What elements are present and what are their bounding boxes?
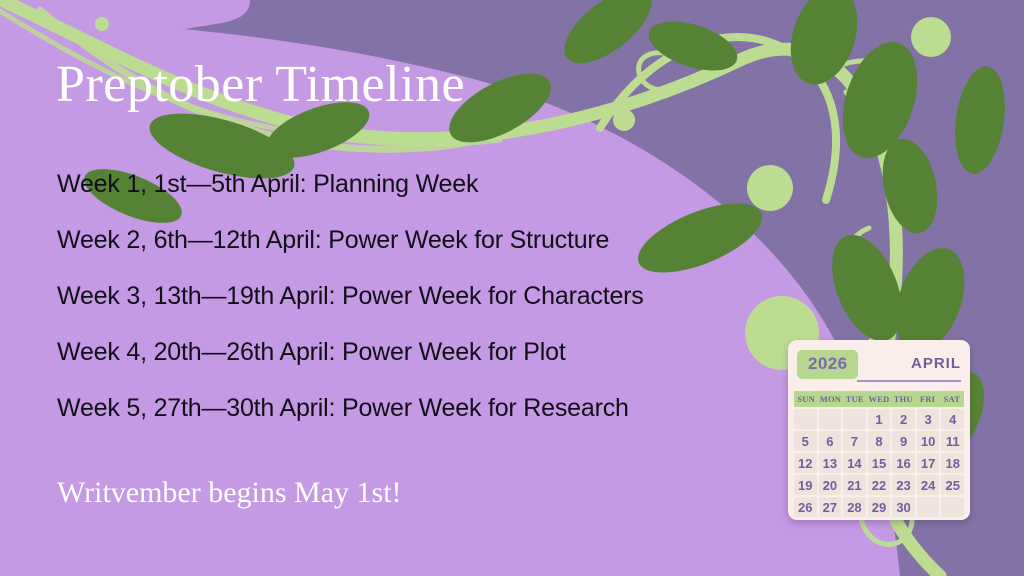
calendar-day-headers: SUN MON TUE WED THU FRI SAT — [794, 391, 964, 407]
calendar-cell-date[interactable]: 14 — [843, 453, 866, 473]
calendar-cell-date[interactable]: 22 — [868, 475, 891, 495]
calendar-cell-date[interactable]: 23 — [892, 475, 915, 495]
list-item: Week 4, 20th—26th April: Power Week for … — [57, 340, 817, 365]
page-title: Preptober Timeline — [56, 56, 465, 113]
calendar-cell-date[interactable]: 9 — [892, 431, 915, 451]
day-header: SUN — [794, 391, 818, 407]
calendar-cell-date[interactable]: 2 — [892, 409, 915, 429]
calendar-cell-date[interactable]: 20 — [819, 475, 842, 495]
day-header: FRI — [915, 391, 939, 407]
calendar-cell-date[interactable]: 7 — [843, 431, 866, 451]
calendar-cell-date[interactable]: 18 — [941, 453, 964, 473]
day-header: THU — [891, 391, 915, 407]
footer-note: Writvember begins May 1st! — [57, 476, 402, 510]
calendar-cell-date[interactable]: 1 — [868, 409, 891, 429]
calendar-cell-empty — [917, 497, 940, 517]
calendar-cell-date[interactable]: 19 — [794, 475, 817, 495]
day-header: SAT — [940, 391, 964, 407]
calendar-month-label: APRIL — [911, 355, 961, 372]
calendar-divider — [857, 380, 961, 382]
calendar-cell-date[interactable]: 27 — [819, 497, 842, 517]
calendar-cell-date[interactable]: 26 — [794, 497, 817, 517]
calendar-cell-date[interactable]: 16 — [892, 453, 915, 473]
week-list: Week 1, 1st—5th April: Planning Week Wee… — [57, 172, 817, 452]
calendar-cell-empty — [794, 409, 817, 429]
day-header: WED — [867, 391, 891, 407]
calendar-header: 2026 APRIL — [797, 348, 961, 388]
calendar-cell-date[interactable]: 28 — [843, 497, 866, 517]
calendar-cell-empty — [941, 497, 964, 517]
calendar-cell-date[interactable]: 25 — [941, 475, 964, 495]
calendar-widget: 2026 APRIL SUN MON TUE WED THU FRI SAT 1… — [788, 340, 970, 520]
calendar-cell-date[interactable]: 12 — [794, 453, 817, 473]
list-item: Week 1, 1st—5th April: Planning Week — [57, 172, 817, 197]
calendar-cell-date[interactable]: 4 — [941, 409, 964, 429]
calendar-cell-date[interactable]: 21 — [843, 475, 866, 495]
slide-content: Preptober Timeline Week 1, 1st—5th April… — [0, 0, 1024, 576]
calendar-cell-date[interactable]: 24 — [917, 475, 940, 495]
calendar-cell-date[interactable]: 15 — [868, 453, 891, 473]
day-header: MON — [818, 391, 842, 407]
calendar-cell-date[interactable]: 13 — [819, 453, 842, 473]
calendar-cell-date[interactable]: 10 — [917, 431, 940, 451]
slide-canvas: Preptober Timeline Week 1, 1st—5th April… — [0, 0, 1024, 576]
calendar-cell-empty — [819, 409, 842, 429]
calendar-cell-date[interactable]: 3 — [917, 409, 940, 429]
list-item: Week 3, 13th—19th April: Power Week for … — [57, 284, 817, 309]
calendar-cell-date[interactable]: 30 — [892, 497, 915, 517]
calendar-cell-empty — [843, 409, 866, 429]
calendar-cell-date[interactable]: 29 — [868, 497, 891, 517]
calendar-cell-date[interactable]: 8 — [868, 431, 891, 451]
list-item: Week 5, 27th—30th April: Power Week for … — [57, 396, 817, 421]
calendar-cell-date[interactable]: 11 — [941, 431, 964, 451]
calendar-cell-date[interactable]: 6 — [819, 431, 842, 451]
calendar-cell-date[interactable]: 17 — [917, 453, 940, 473]
calendar-year-badge: 2026 — [797, 350, 858, 379]
list-item: Week 2, 6th—12th April: Power Week for S… — [57, 228, 817, 253]
calendar-date-grid: 1234567891011121314151617181920212223242… — [794, 409, 964, 517]
day-header: TUE — [843, 391, 867, 407]
calendar-cell-date[interactable]: 5 — [794, 431, 817, 451]
